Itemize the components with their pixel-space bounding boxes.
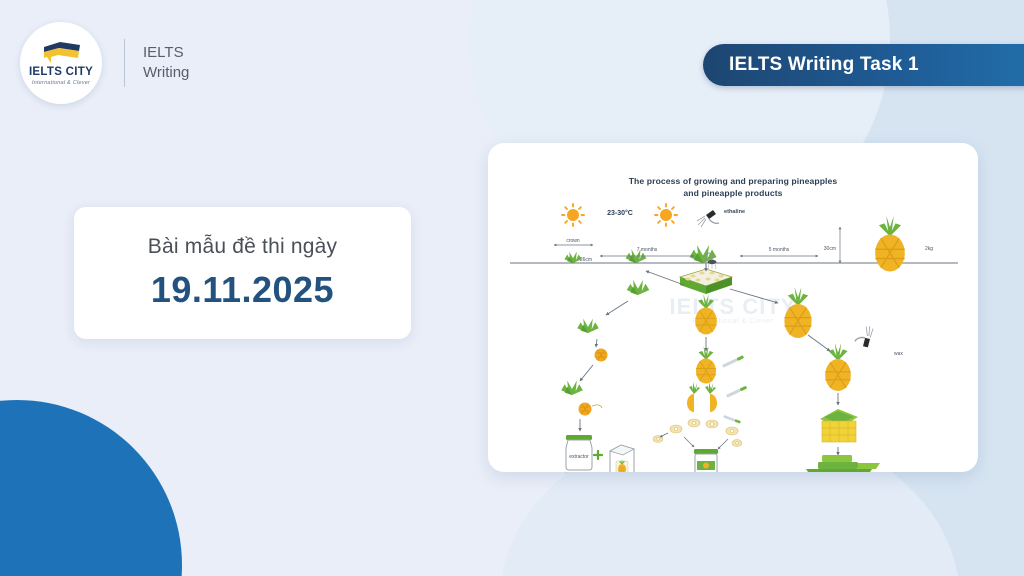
date-card: Bài mẫu đề thi ngày 19.11.2025 [74, 207, 411, 339]
brand-header: IELTS CITY International & Clever IELTS … [20, 22, 189, 104]
diagram-label-ethaline: ethaline [724, 209, 745, 215]
diagram-label-extractor: extractor [569, 454, 589, 460]
diagram-label-wax: wax [894, 351, 903, 357]
logo-tagline: International & Clever [32, 80, 90, 86]
slide-canvas: IELTS CITY International & Clever IELTS … [0, 0, 1024, 576]
diagram-card: The process of growing and preparing pin… [488, 143, 978, 472]
diagram-label-5months: 5 months [769, 247, 790, 253]
brand-side-text: IELTS Writing [143, 43, 189, 84]
background-circle-accent-blue [0, 400, 182, 576]
diagram-label-30cm: 30cm [824, 246, 836, 252]
task-banner: IELTS Writing Task 1 [703, 44, 1024, 86]
diagram-label-crown: crown [566, 238, 580, 244]
brand-side-text-line2: Writing [143, 63, 189, 83]
pineapple-process-diagram: 23-30°C ethaline crown 26cm 7 months 5 m… [488, 143, 978, 472]
brand-side-text-line1: IELTS [143, 43, 189, 63]
task-banner-label: IELTS Writing Task 1 [703, 54, 919, 76]
logo-name: IELTS CITY [29, 67, 93, 79]
diagram-label-26cm: 26cm [580, 257, 592, 263]
book-speech-bubble-icon [38, 40, 84, 66]
date-card-label: Bài mẫu đề thi ngày [148, 235, 337, 259]
logo-badge: IELTS CITY International & Clever [20, 22, 102, 104]
diagram-label-2kg: 2kg [925, 246, 933, 252]
header-divider [124, 39, 125, 87]
date-card-value: 19.11.2025 [151, 269, 334, 311]
diagram-label-temperature: 23-30°C [607, 209, 633, 217]
diagram-label-7months: 7 months [637, 247, 658, 253]
